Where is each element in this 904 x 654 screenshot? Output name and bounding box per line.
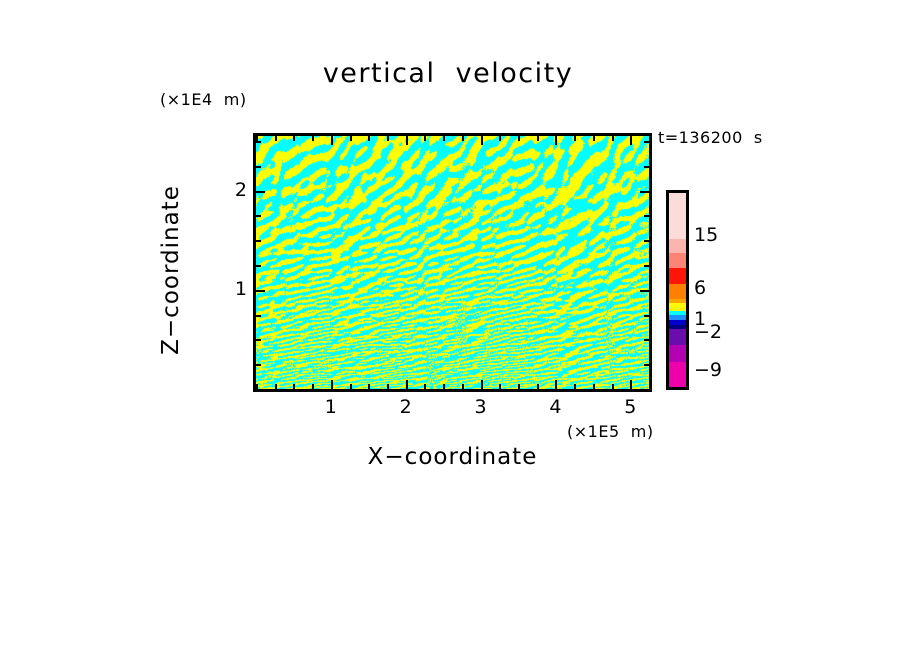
tick-mark xyxy=(499,136,501,141)
tick-mark xyxy=(256,265,261,267)
colorbar-band xyxy=(669,239,686,254)
tick-mark xyxy=(640,191,649,193)
tick-mark xyxy=(630,136,632,145)
tick-mark xyxy=(630,380,632,389)
tick-mark xyxy=(644,215,649,217)
tick-mark xyxy=(593,384,595,389)
tick-mark xyxy=(518,384,520,389)
tick-mark xyxy=(312,384,314,389)
y-tick-label: 2 xyxy=(221,179,247,201)
tick-mark xyxy=(293,136,295,141)
colorbar-band xyxy=(669,345,686,362)
tick-mark xyxy=(256,389,261,391)
colorbar-tick-label: 6 xyxy=(694,277,706,299)
time-annotation: t=136200 s xyxy=(658,128,763,147)
z-axis-unit-label: (×1E4 m) xyxy=(160,90,247,109)
x-tick-label: 1 xyxy=(316,396,346,418)
tick-mark xyxy=(275,136,277,141)
tick-mark xyxy=(649,136,651,141)
tick-mark xyxy=(293,384,295,389)
tick-mark xyxy=(499,384,501,389)
tick-mark xyxy=(331,136,333,145)
tick-mark xyxy=(537,136,539,141)
tick-mark xyxy=(256,191,265,193)
page-title: vertical velocity xyxy=(0,58,904,89)
colorbar-tick-label: −9 xyxy=(694,359,722,381)
colorbar xyxy=(666,190,689,390)
tick-mark xyxy=(612,136,614,141)
x-tick-label: 4 xyxy=(540,396,570,418)
tick-mark xyxy=(649,384,651,389)
tick-mark xyxy=(612,384,614,389)
x-axis-title: X−coordinate xyxy=(253,444,652,470)
tick-mark xyxy=(644,265,649,267)
colorbar-tick-label: −2 xyxy=(694,321,722,343)
tick-mark xyxy=(406,136,408,145)
x-tick-label: 2 xyxy=(391,396,421,418)
tick-mark xyxy=(443,384,445,389)
plot-area xyxy=(253,133,652,392)
tick-mark xyxy=(406,380,408,389)
y-tick-label: 1 xyxy=(221,278,247,300)
tick-mark xyxy=(644,364,649,366)
x-tick-label: 3 xyxy=(466,396,496,418)
tick-mark xyxy=(368,384,370,389)
tick-mark xyxy=(644,389,649,391)
tick-mark xyxy=(640,290,649,292)
tick-mark xyxy=(256,290,265,292)
tick-mark xyxy=(462,384,464,389)
tick-mark xyxy=(256,364,261,366)
tick-mark xyxy=(256,315,261,317)
y-axis-title: Z−coordinate xyxy=(158,170,182,370)
colorbar-band xyxy=(669,268,686,285)
tick-mark xyxy=(256,141,261,143)
tick-mark xyxy=(387,136,389,141)
tick-mark xyxy=(644,141,649,143)
tick-mark xyxy=(555,380,557,389)
tick-mark xyxy=(555,136,557,145)
tick-mark xyxy=(424,384,426,389)
tick-mark xyxy=(574,384,576,389)
tick-mark xyxy=(462,136,464,141)
tick-mark xyxy=(481,380,483,389)
tick-mark xyxy=(518,136,520,141)
tick-mark xyxy=(443,136,445,141)
colorbar-band xyxy=(669,362,686,388)
colorbar-tick-label: 15 xyxy=(694,224,718,246)
tick-mark xyxy=(574,136,576,141)
tick-mark xyxy=(424,136,426,141)
tick-mark xyxy=(331,380,333,389)
velocity-field-image xyxy=(256,136,649,389)
tick-mark xyxy=(256,166,261,168)
colorbar-band xyxy=(669,329,686,346)
tick-mark xyxy=(256,339,261,341)
tick-mark xyxy=(387,384,389,389)
colorbar-band xyxy=(669,253,686,268)
colorbar-band xyxy=(669,193,686,239)
tick-mark xyxy=(256,215,261,217)
tick-mark xyxy=(644,315,649,317)
tick-mark xyxy=(644,339,649,341)
tick-mark xyxy=(350,136,352,141)
tick-mark xyxy=(481,136,483,145)
tick-mark xyxy=(537,384,539,389)
plot-title-text: vertical velocity xyxy=(323,58,573,89)
tick-mark xyxy=(368,136,370,141)
tick-mark xyxy=(593,136,595,141)
colorbar-band xyxy=(669,284,686,299)
tick-mark xyxy=(275,384,277,389)
tick-mark xyxy=(256,240,261,242)
tick-mark xyxy=(350,384,352,389)
tick-mark xyxy=(312,136,314,141)
tick-mark xyxy=(644,166,649,168)
x-axis-unit-label: (×1E5 m) xyxy=(567,422,654,441)
tick-mark xyxy=(644,240,649,242)
x-tick-label: 5 xyxy=(615,396,645,418)
figure-canvas: vertical velocity (×1E4 m) t=136200 s 12… xyxy=(0,0,904,654)
